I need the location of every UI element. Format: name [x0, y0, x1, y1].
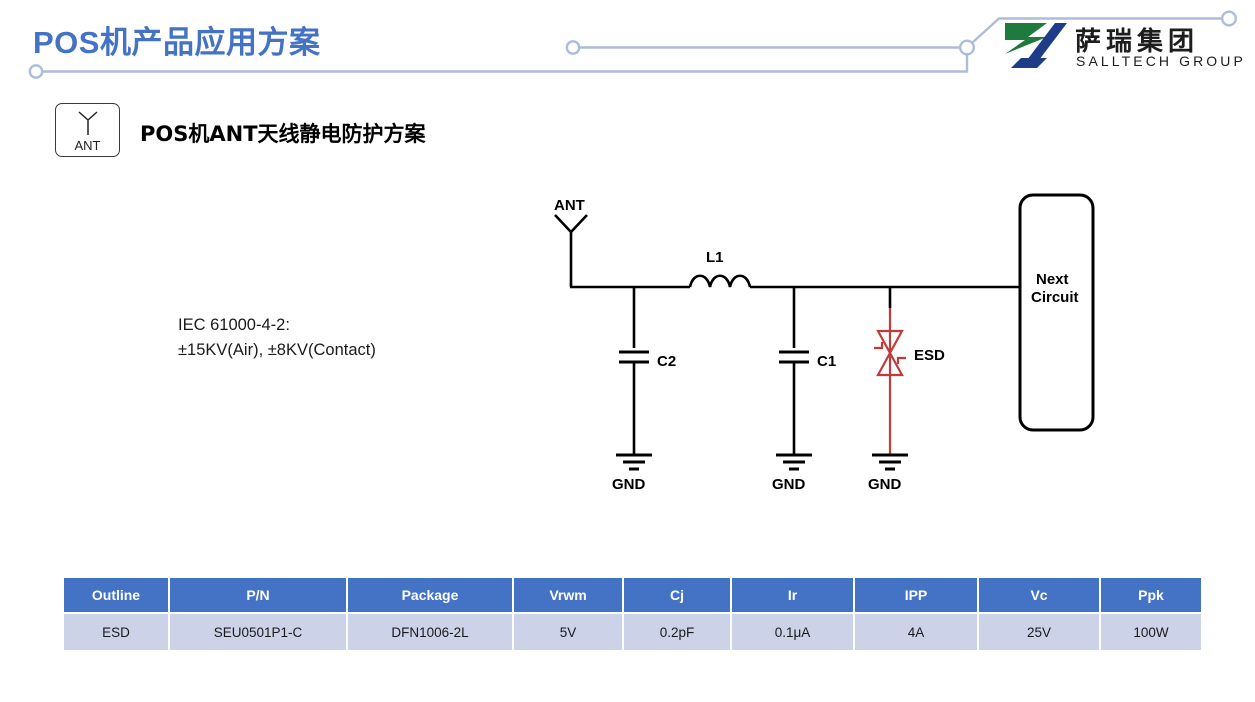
- gnd-label-esd: GND: [868, 476, 902, 493]
- next-circuit-line-1: Next: [1036, 271, 1069, 288]
- cell-vc: 25V: [978, 613, 1100, 650]
- gnd-label-c1: GND: [772, 476, 806, 493]
- antenna-icon: [73, 109, 103, 137]
- column-header-cj: Cj: [623, 578, 731, 613]
- capacitor-c1-label: C1: [817, 353, 836, 370]
- circuit-diagram: ANT L1 C2 GND C1 GND ESD GN: [520, 180, 1140, 510]
- cell-cj: 0.2pF: [623, 613, 731, 650]
- cell-pn: SEU0501P1-C: [169, 613, 347, 650]
- cell-outline: ESD: [64, 613, 169, 650]
- section-heading: POS机ANT天线静电防护方案: [140, 118, 426, 148]
- inductor-symbol: [690, 276, 750, 287]
- cell-vrwm: 5V: [513, 613, 623, 650]
- capacitor-c1-branch: [776, 287, 812, 469]
- antenna-label: ANT: [554, 197, 585, 214]
- page-title: POS机产品应用方案: [33, 17, 320, 62]
- column-header-ppk: Ppk: [1100, 578, 1201, 613]
- slide-header: POS机产品应用方案 萨瑞集团 SALLTECH GROUP: [0, 0, 1255, 92]
- column-header-outline: Outline: [64, 578, 169, 613]
- cell-package: DFN1006-2L: [347, 613, 513, 650]
- cell-ipp: 4A: [854, 613, 978, 650]
- column-header-vc: Vc: [978, 578, 1100, 613]
- gnd-label-c2: GND: [612, 476, 646, 493]
- capacitor-c2-branch: [616, 287, 652, 469]
- column-header-vrwm: Vrwm: [513, 578, 623, 613]
- spec-table: Outline P/N Package Vrwm Cj Ir IPP Vc Pp…: [64, 578, 1201, 650]
- column-header-ipp: IPP: [854, 578, 978, 613]
- cell-ppk: 100W: [1100, 613, 1201, 650]
- table-header-row: Outline P/N Package Vrwm Cj Ir IPP Vc Pp…: [64, 578, 1201, 613]
- esd-label: ESD: [914, 347, 945, 364]
- iec-note-line-1: IEC 61000-4-2:: [178, 313, 376, 338]
- ant-icon-box: ANT: [55, 103, 120, 157]
- column-header-pn: P/N: [169, 578, 347, 613]
- iec-note-line-2: ±15KV(Air), ±8KV(Contact): [178, 338, 376, 363]
- ant-icon-label: ANT: [56, 138, 119, 153]
- column-header-ir: Ir: [731, 578, 854, 613]
- capacitor-c2-label: C2: [657, 353, 676, 370]
- column-header-package: Package: [347, 578, 513, 613]
- iec-standard-note: IEC 61000-4-2: ±15KV(Air), ±8KV(Contact): [178, 313, 376, 363]
- salltech-mark-icon: [1003, 20, 1069, 72]
- table-row: ESD SEU0501P1-C DFN1006-2L 5V 0.2pF 0.1μ…: [64, 613, 1201, 650]
- brand-logo: 萨瑞集团 SALLTECH GROUP: [1003, 20, 1225, 74]
- inductor-label: L1: [706, 249, 724, 266]
- logo-english-name: SALLTECH GROUP: [1076, 53, 1246, 69]
- esd-diode-branch: [872, 287, 908, 469]
- antenna-symbol: [555, 215, 587, 287]
- next-circuit-block: [1020, 195, 1093, 430]
- next-circuit-line-2: Circuit: [1031, 289, 1079, 306]
- cell-ir: 0.1μA: [731, 613, 854, 650]
